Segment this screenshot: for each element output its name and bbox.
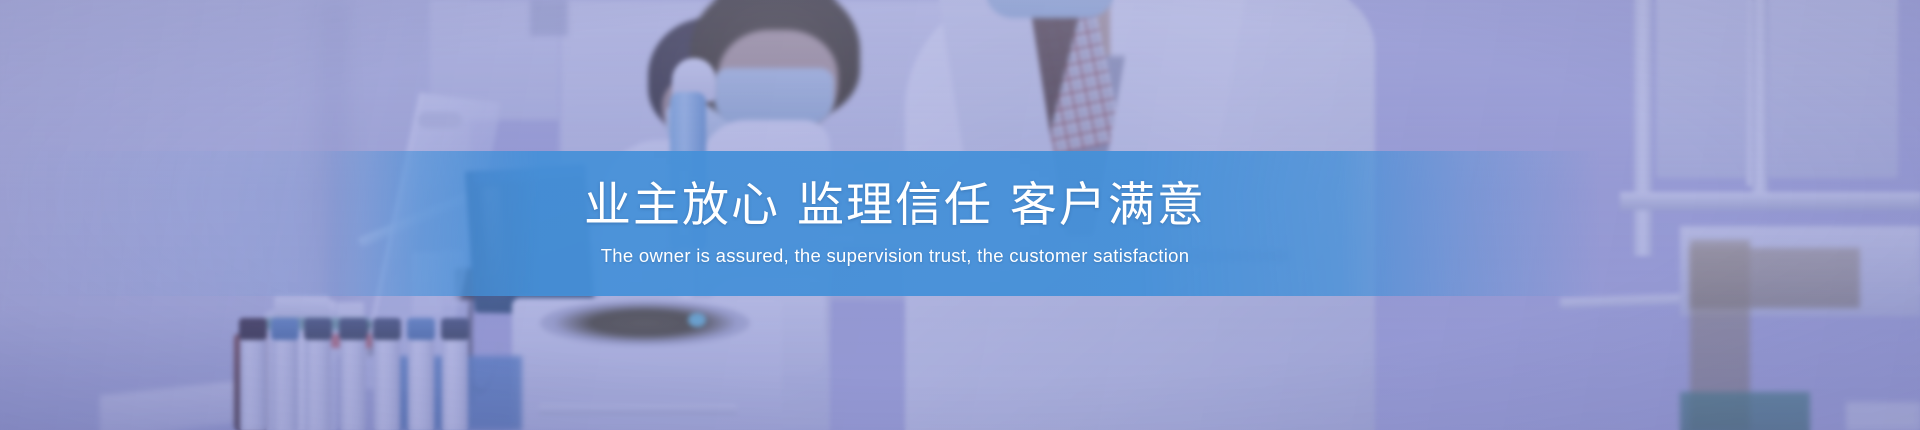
face-mask [985, 0, 1115, 18]
pipette-body [670, 92, 706, 252]
sample-vial [272, 334, 298, 430]
window-mullion [1746, 0, 1754, 186]
sample-vial [374, 334, 400, 430]
window-mullion [1752, 0, 1768, 196]
hero-banner: 业主放心 监理信任 客户满意 The owner is assured, the… [0, 0, 1920, 430]
sample-vial [340, 334, 366, 430]
cabinet-door-panel [1656, 0, 1752, 178]
centrifuge-indicator [688, 313, 706, 327]
coat-pocket [1150, 250, 1290, 262]
panel-label-tag [530, 0, 568, 36]
window-mullion [1634, 0, 1652, 256]
green-container [1680, 392, 1810, 430]
cabinet-door-panel [1768, 0, 1898, 178]
sample-vial [305, 334, 331, 430]
shield-clip [418, 112, 462, 128]
centrifuge-base [538, 404, 738, 415]
window-sill [1620, 192, 1920, 210]
centrifuge-rotor-chamber [540, 300, 750, 346]
face-mask [714, 68, 834, 126]
sample-vial [442, 334, 468, 430]
sample-vial [408, 334, 434, 430]
sample-vial [240, 334, 266, 430]
tray [1846, 402, 1920, 430]
background-photo [0, 0, 1920, 430]
storage-box [1690, 248, 1860, 308]
